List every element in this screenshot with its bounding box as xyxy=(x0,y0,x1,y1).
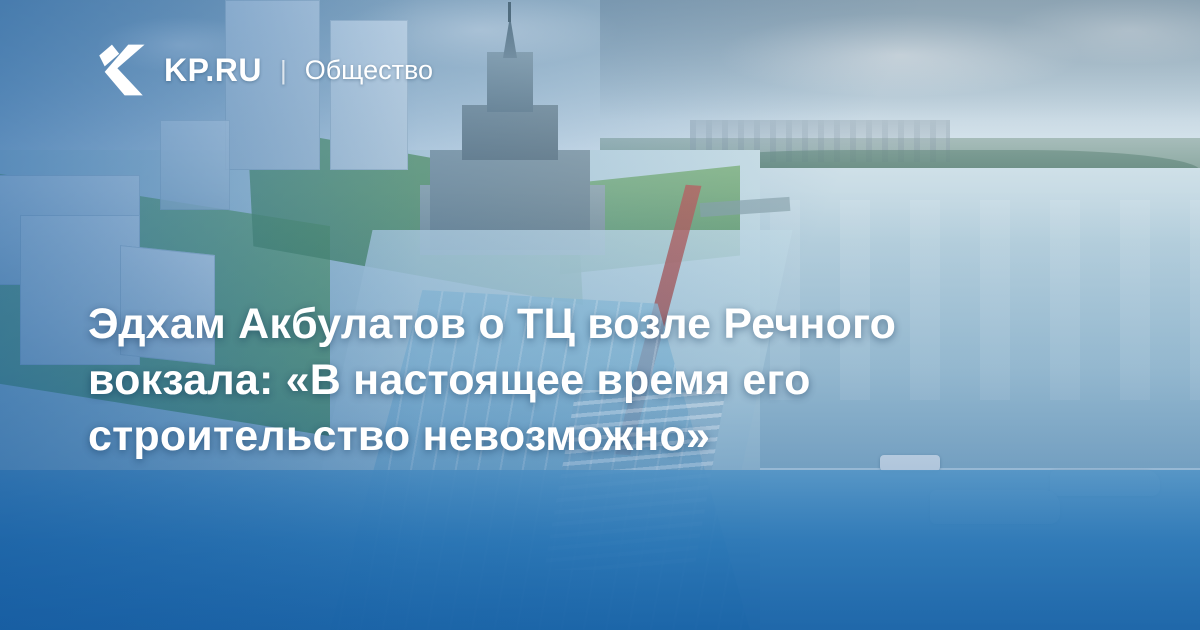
rubric-label[interactable]: Общество xyxy=(305,55,433,86)
social-share-card: KP.RU | Общество Эдхам Акбулатов о ТЦ во… xyxy=(0,0,1200,630)
brand-separator: | xyxy=(280,55,287,86)
card-header: KP.RU | Общество xyxy=(0,0,1200,140)
article-headline: Эдхам Акбулатов о ТЦ возле Речного вокза… xyxy=(88,296,1028,464)
kp-bird-logo-icon[interactable] xyxy=(92,41,150,99)
brand-name[interactable]: KP.RU xyxy=(164,52,262,89)
